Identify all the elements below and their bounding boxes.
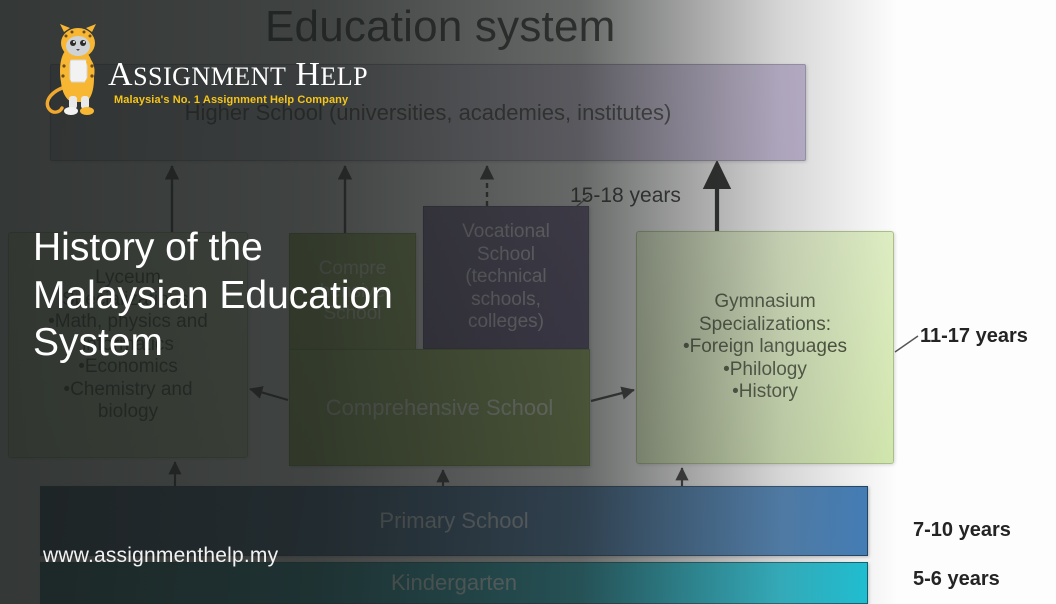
- gymnasium-item: •Foreign languages: [647, 336, 883, 358]
- logo-word-elp: ELP: [320, 62, 368, 91]
- box-kindergarten: Kindergarten: [40, 562, 868, 604]
- lyceum-item: biology: [17, 401, 239, 423]
- leopard-mascot-icon: [42, 22, 114, 117]
- brand-logo[interactable]: ASSIGNMENT HELP Malaysia's No. 1 Assignm…: [42, 22, 387, 117]
- gymnasium-heading-line2: Specializations:: [647, 314, 883, 336]
- headline-line-3: System: [33, 319, 473, 367]
- page-headline: History of the Malaysian Education Syste…: [33, 224, 473, 367]
- box-gymnasium: Gymnasium Specializations: •Foreign lang…: [636, 231, 894, 464]
- age-label-kindergarten: 5-6 years: [913, 568, 1000, 591]
- vocational-line3: (technical: [465, 266, 546, 288]
- logo-wordmark: ASSIGNMENT HELP: [108, 58, 368, 92]
- logo-word-a: A: [108, 56, 133, 93]
- logo-word-h: H: [295, 56, 320, 93]
- age-label-vocational: 15-18 years: [570, 184, 681, 208]
- lyceum-item: •Chemistry and: [17, 379, 239, 401]
- age-label-gymnasium: 11-17 years: [920, 325, 1028, 348]
- site-url-watermark: www.assignmenthelp.my: [43, 544, 278, 568]
- headline-line-1: History of the: [33, 224, 473, 272]
- headline-line-2: Malaysian Education: [33, 272, 473, 320]
- vocational-line1: Vocational: [462, 221, 550, 243]
- gymnasium-heading-line1: Gymnasium: [647, 291, 883, 313]
- vocational-line5: colleges): [468, 311, 544, 333]
- gymnasium-item: •History: [647, 381, 883, 403]
- vocational-line4: schools,: [471, 289, 541, 311]
- gymnasium-item: •Philology: [647, 359, 883, 381]
- age-label-primary: 7-10 years: [913, 519, 1011, 542]
- logo-word-ssignment: SSIGNMENT: [133, 62, 286, 91]
- article-header-graphic: Education system: [0, 0, 1056, 604]
- vocational-line2: School: [477, 244, 535, 266]
- logo-tagline: Malaysia's No. 1 Assignment Help Company: [114, 94, 348, 106]
